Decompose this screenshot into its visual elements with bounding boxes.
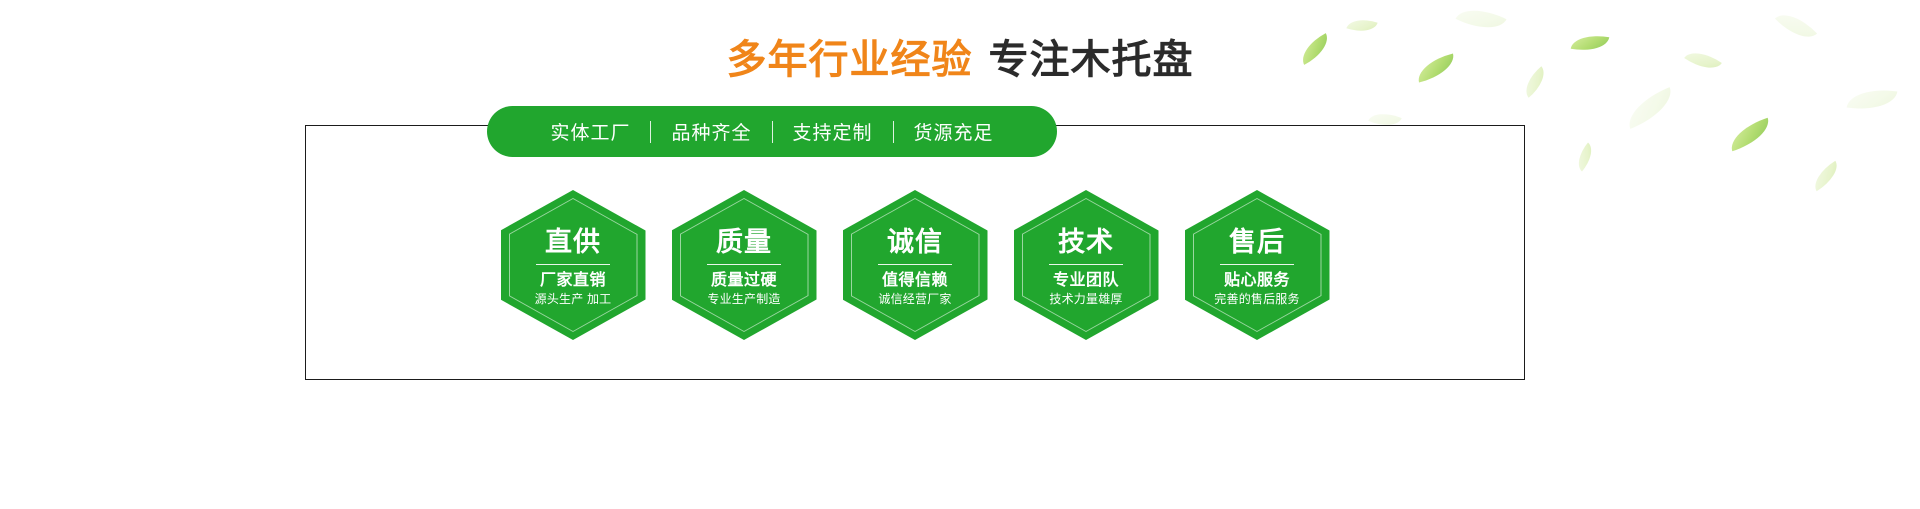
- hexagon-title: 售后: [1229, 226, 1285, 258]
- hexagon-description: 完善的售后服务: [1214, 291, 1299, 308]
- hexagon-badge-shouhou[interactable]: 售后 贴心服务 完善的售后服务: [1185, 190, 1330, 340]
- hexagon-content: 技术 专业团队 技术力量雄厚: [1049, 222, 1123, 308]
- hexagon-content: 直供 厂家直销 源头生产 加工: [535, 222, 612, 308]
- feature-tag-2: 支持定制: [773, 118, 893, 145]
- leaf-icon: [1726, 118, 1774, 152]
- banner-headline: 多年行业经验专注木托盘: [0, 34, 1920, 86]
- leaf-icon: [1808, 161, 1844, 192]
- hexagon-title: 质量: [716, 226, 772, 258]
- hexagon-divider: [1049, 264, 1123, 265]
- hexagon-subtitle: 质量过硬: [711, 271, 777, 291]
- leaf-icon: [1571, 143, 1598, 172]
- hexagon-title: 直供: [545, 226, 601, 258]
- hexagon-divider: [878, 264, 952, 265]
- feature-tag-3: 货源充足: [894, 118, 1014, 145]
- hexagon-description: 诚信经营厂家: [878, 291, 951, 308]
- feature-tag-1: 品种齐全: [651, 118, 771, 145]
- hexagon-subtitle: 值得信赖: [882, 271, 948, 291]
- hexagon-badge-zhigong[interactable]: 直供 厂家直销 源头生产 加工: [501, 190, 646, 340]
- leaf-icon: [1621, 87, 1678, 129]
- hexagon-badge-row: 直供 厂家直销 源头生产 加工 质量 质量过硬 专业生产制造 诚信 值得信赖: [305, 190, 1525, 340]
- hexagon-description: 专业生产制造: [707, 291, 780, 308]
- feature-tag-0: 实体工厂: [530, 118, 650, 145]
- hexagon-badge-zhiliang[interactable]: 质量 质量过硬 专业生产制造: [672, 190, 817, 340]
- headline-main-text: 专注木托盘: [989, 38, 1194, 82]
- hexagon-badge-jishu[interactable]: 技术 专业团队 技术力量雄厚: [1014, 190, 1159, 340]
- hexagon-content: 质量 质量过硬 专业生产制造: [707, 222, 781, 308]
- hexagon-title: 技术: [1058, 226, 1114, 258]
- hexagon-badge-chengxin[interactable]: 诚信 值得信赖 诚信经营厂家: [843, 190, 988, 340]
- hexagon-subtitle: 贴心服务: [1224, 271, 1290, 291]
- hexagon-divider: [536, 264, 610, 265]
- feature-tag-bar: 实体工厂 品种齐全 支持定制 货源充足: [487, 106, 1057, 157]
- leaf-icon: [1847, 85, 1898, 114]
- hexagon-subtitle: 厂家直销: [540, 271, 606, 291]
- hexagon-description: 技术力量雄厚: [1049, 291, 1122, 308]
- hexagon-content: 诚信 值得信赖 诚信经营厂家: [878, 222, 952, 308]
- promo-banner: 多年行业经验专注木托盘 实体工厂 品种齐全 支持定制 货源充足 直供 厂家直销 …: [0, 0, 1920, 509]
- hexagon-title: 诚信: [887, 226, 943, 258]
- hexagon-divider: [1220, 264, 1294, 265]
- headline-accent-text: 多年行业经验: [727, 38, 973, 82]
- hexagon-description: 源头生产 加工: [535, 291, 612, 308]
- hexagon-subtitle: 专业团队: [1053, 271, 1119, 291]
- hexagon-divider: [707, 264, 781, 265]
- hexagon-content: 售后 贴心服务 完善的售后服务: [1214, 222, 1299, 308]
